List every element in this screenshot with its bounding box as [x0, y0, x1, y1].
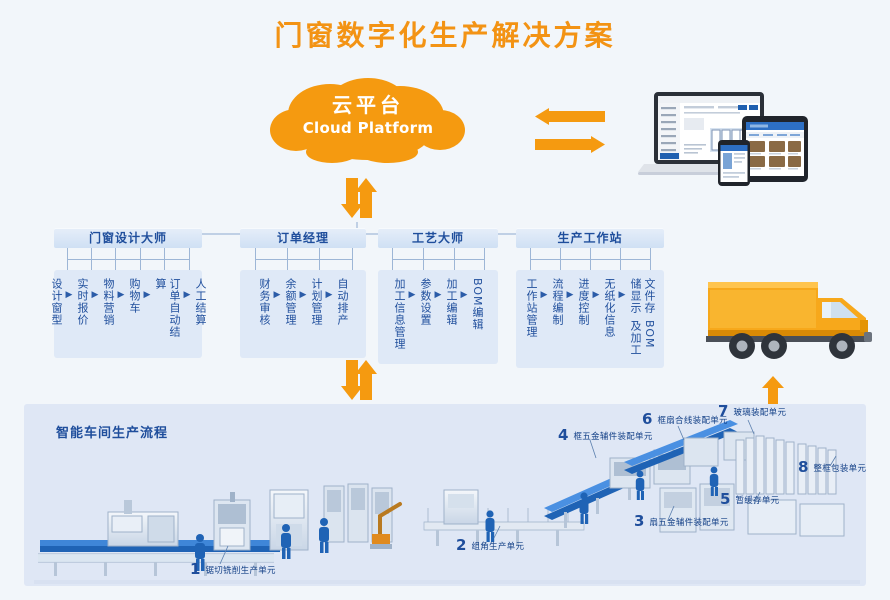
step-item[interactable]: 参数设置	[417, 278, 433, 326]
step-item-line: BOM及加工	[628, 320, 656, 358]
unit-number: 4	[558, 428, 568, 443]
unit-number: 7	[718, 404, 728, 419]
step-arrow-icon: ▶	[142, 278, 152, 300]
delivery-truck-illustration	[700, 262, 880, 370]
step-item[interactable]: 余额管理	[282, 278, 298, 326]
module-column-1[interactable]: 订单经理 财务审核 ▶ 余额管理 ▶ 计划管理 ▶ 自动排产	[240, 228, 366, 358]
unit-label: 整框包装单元	[813, 462, 866, 474]
step-item[interactable]: 工作站管理	[523, 278, 539, 338]
step-arrow-icon: ▶	[565, 278, 575, 300]
module-column-0[interactable]: 门窗设计大师 设计窗型 ▶ 实时报价 ▶ 物料营销 ▶ 购物车 ▶ 订单自动结算…	[54, 228, 202, 358]
workshop-unit-1[interactable]: 1 锯切铣削生产单元	[190, 562, 276, 577]
unit-number: 1	[190, 562, 200, 577]
module-steps-1: 财务审核 ▶ 余额管理 ▶ 计划管理 ▶ 自动排产	[240, 270, 366, 358]
cloud-label-group: 云平台 Cloud Platform	[268, 92, 468, 138]
step-item[interactable]: 计划管理	[308, 278, 324, 326]
workshop-unit-5[interactable]: 5 暂缓存单元	[720, 492, 779, 507]
unit-label: 组角生产单元	[471, 540, 524, 552]
devices-illustration	[630, 88, 850, 188]
step-arrow-icon: ▶	[591, 278, 601, 300]
step-arrow-icon: ▶	[324, 278, 334, 300]
bidirectional-arrow-cloud-down	[341, 178, 377, 218]
unit-number: 5	[720, 492, 730, 507]
step-item-line: 文件存储显示	[628, 278, 656, 320]
bidirectional-arrow-horizontal	[535, 108, 605, 156]
unit-label: 暂缓存单元	[735, 494, 779, 506]
step-item[interactable]: 流程编制	[549, 278, 565, 326]
step-item[interactable]: 实时报价	[74, 278, 90, 326]
step-arrow-icon: ▶	[90, 278, 100, 300]
cloud-label-en: Cloud Platform	[268, 118, 468, 138]
workshop-unit-3[interactable]: 3 扇五金辅件装配单元	[634, 514, 729, 529]
unit-number: 2	[456, 538, 466, 553]
step-item-multiline[interactable]: BOM及加工 文件存储显示	[627, 278, 657, 358]
unit-label: 扇五金辅件装配单元	[649, 516, 728, 528]
cloud-platform-node: 云平台 Cloud Platform	[268, 78, 468, 164]
step-arrow-icon: ▶	[539, 278, 549, 300]
step-item[interactable]: BOM编辑	[469, 278, 485, 331]
step-item[interactable]: 加工编辑	[443, 278, 459, 326]
module-stems-0	[54, 248, 202, 270]
step-arrow-icon: ▶	[433, 278, 443, 300]
module-column-2[interactable]: 工艺大师 加工信息管理 ▶ 参数设置 ▶ 加工编辑 ▶ BOM编辑	[378, 228, 498, 364]
workshop-unit-7[interactable]: 7 玻璃装配单元	[718, 404, 786, 419]
workshop-panel: 智能车间生产流程	[24, 404, 866, 586]
module-stems-2	[378, 248, 498, 270]
step-arrow-icon: ▶	[182, 278, 192, 300]
unit-number: 8	[798, 460, 808, 475]
bidirectional-arrow-workshop	[336, 360, 380, 402]
step-item[interactable]: 加工信息管理	[391, 278, 407, 350]
step-item[interactable]: 物料营销	[100, 278, 116, 326]
step-item[interactable]: 无纸化信息	[601, 278, 617, 338]
unit-label: 锯切铣削生产单元	[205, 564, 275, 576]
module-steps-3: 工作站管理 ▶ 流程编制 ▶ 进度控制 ▶ 无纸化信息 ▶ BOM及加工 文件存…	[516, 270, 664, 368]
step-arrow-icon: ▶	[64, 278, 74, 300]
tablet-device	[742, 116, 808, 182]
workshop-unit-8[interactable]: 8 整框包装单元	[798, 460, 866, 475]
module-stems-1	[240, 248, 366, 270]
workshop-unit-4[interactable]: 4 框五金辅件装配单元	[558, 428, 653, 443]
module-title-1[interactable]: 订单经理	[240, 228, 366, 248]
step-arrow-icon: ▶	[617, 278, 627, 300]
step-arrow-icon: ▶	[298, 278, 308, 300]
step-arrow-icon: ▶	[116, 278, 126, 300]
step-arrow-icon: ▶	[272, 278, 282, 300]
unit-number: 6	[642, 412, 652, 427]
module-column-3[interactable]: 生产工作站 工作站管理 ▶ 流程编制 ▶ 进度控制 ▶ 无纸化信息 ▶ BOM及…	[516, 228, 664, 368]
module-steps-0: 设计窗型 ▶ 实时报价 ▶ 物料营销 ▶ 购物车 ▶ 订单自动结算 ▶ 人工结算	[54, 270, 202, 358]
unit-label: 玻璃装配单元	[733, 406, 786, 418]
step-item[interactable]: 设计窗型	[48, 278, 64, 326]
step-item[interactable]: 自动排产	[334, 278, 350, 326]
step-item[interactable]: 财务审核	[256, 278, 272, 326]
workshop-unit-6[interactable]: 6 框扇合线装配单元	[642, 412, 728, 427]
step-item[interactable]: 订单自动结算	[152, 278, 182, 348]
solution-diagram: 门窗数字化生产解决方案 云平台 Cloud Platform	[0, 0, 890, 600]
cloud-label-cn: 云平台	[268, 92, 468, 118]
workshop-unit-2[interactable]: 2 组角生产单元	[456, 538, 524, 553]
step-arrow-icon: ▶	[459, 278, 469, 300]
step-item[interactable]: 购物车	[126, 278, 142, 314]
module-title-0[interactable]: 门窗设计大师	[54, 228, 202, 248]
unit-number: 3	[634, 514, 644, 529]
page-title: 门窗数字化生产解决方案	[0, 14, 890, 54]
module-steps-2: 加工信息管理 ▶ 参数设置 ▶ 加工编辑 ▶ BOM编辑	[378, 270, 498, 364]
step-arrow-icon: ▶	[407, 278, 417, 300]
module-stems-3	[516, 248, 664, 270]
step-item[interactable]: 进度控制	[575, 278, 591, 326]
step-item[interactable]: 人工结算	[192, 278, 208, 326]
unit-label: 框五金辅件装配单元	[573, 430, 652, 442]
module-title-2[interactable]: 工艺大师	[378, 228, 498, 248]
module-title-3[interactable]: 生产工作站	[516, 228, 664, 248]
